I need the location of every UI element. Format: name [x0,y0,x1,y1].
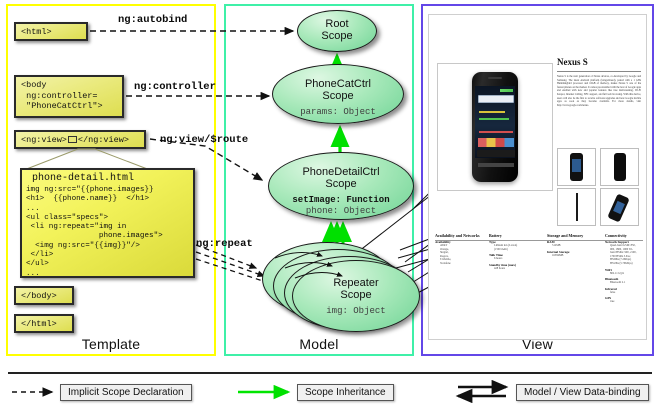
legend-item-implicit-scope-declaration: Implicit Scope Declaration [60,384,192,401]
view-rendered-page: Nexus S Nexus S is the next generation o… [428,14,647,340]
ngview-placeholder-icon [68,136,77,143]
spec-header-availability: Availability and Networks [435,233,481,238]
scope-repeater-title-2: Scope [293,289,419,301]
spec-value-standby: 428 hours [494,267,539,271]
code-html-open: <html> [14,22,88,41]
phone-widget-bar-1 [479,111,505,113]
code-phone-detail-template: phone-detail.html img ng:src="{{phone.im… [20,168,195,278]
phone-widget-bar-2 [479,118,509,120]
phone-searchbar [478,95,514,103]
label-ng-repeat: ng:repeat [196,238,253,250]
label-ng-autobind: ng:autobind [118,14,187,26]
scope-phonecatctrl-title-2: Scope [273,90,403,102]
thumbnail-1[interactable] [557,148,596,186]
label-ng-controller: ng:controller [134,81,216,93]
scope-repeater: Repeater Scope img: Object [292,260,420,332]
spec-column-storage: Storage and Memory RAM 512MB Internal St… [547,233,599,257]
thumbnail-2[interactable] [600,148,639,186]
product-description: Nexus S is the next generation of Nexus … [557,75,641,141]
scope-phonecatctrl-title-1: PhoneCatCtrl [273,78,403,90]
phone-speaker [488,77,502,79]
code-body-close: </body> [14,286,74,305]
legend-item-scope-inheritance: Scope Inheritance [297,384,394,401]
spec-value-vodafone: Vodafone [440,262,481,266]
spec-table: Availability and Networks Availability A… [435,233,643,333]
scope-root-title-2: Scope [298,30,376,42]
spec-value-network-6: HSUPA (5.76Mbps) [610,262,653,266]
diagram-canvas: Template Model View [0,0,660,420]
code-ngview: <ng:view></ng:view> [14,130,146,149]
panel-model-label: Model [226,336,412,352]
scope-repeater-title-1: Repeater [293,277,419,289]
scope-repeater-prop-img: img: Object [293,306,419,317]
phone-hero-image-frame [437,63,553,191]
code-body-open: <body ng:controller= "PhoneCatCtrl"> [14,75,124,118]
phone-widget-bar-3 [479,131,513,133]
spec-header-connectivity: Connectivity [605,233,653,238]
scope-phonecatctrl-prop-params: params: Object [273,107,403,118]
phone-app-icons [478,138,514,147]
legend-divider [8,372,652,374]
spec-value-talk-time: 6 hours [494,257,539,261]
code-html-close: </html> [14,314,74,333]
detail-code: img ng:src="{{phone.images}} <h1> {{phon… [26,186,189,279]
phone-statusbar [500,89,513,92]
scope-phonedetailctrl-title-2: Scope [269,178,413,190]
product-title: Nexus S [557,57,588,67]
spec-value-bluetooth: Bluetooth 2.1 [610,281,653,285]
scope-phonedetailctrl-title-1: PhoneDetailCtrl [269,166,413,178]
spec-header-storage: Storage and Memory [547,233,599,238]
thumbnail-3[interactable] [557,188,596,226]
scope-phonedetailctrl-prop-phone: phone: Object [269,206,413,217]
panel-template-label: Template [8,336,214,352]
spec-value-internal-storage: 16384MB [552,254,599,258]
title-divider [557,71,641,72]
scope-repeater-stack: Repeater Scope img: Object [262,242,422,334]
thumbnail-4[interactable] [600,188,639,226]
scope-phonedetailctrl-prop-setimage: setImage: Function [269,195,413,206]
phone-dock [477,150,515,157]
spec-column-connectivity: Connectivity Network Support Quad-band G… [605,233,653,304]
scope-phonecatctrl: PhoneCatCtrl Scope params: Object [272,64,404,124]
scope-phonedetailctrl: PhoneDetailCtrl Scope setImage: Function… [268,152,414,220]
spec-column-availability: Availability and Networks Availability A… [435,233,481,266]
label-ng-view-route: ng:view/$route [160,134,248,146]
scope-root-title-1: Root [298,18,376,30]
spec-value-gps: true [610,300,653,304]
ngview-close-tag: </ng:view> [78,135,129,145]
spec-value-wifi: 802.11 b/g/n [610,272,653,276]
phone-home-buttons [478,163,514,167]
scope-root: Root Scope [297,10,377,52]
legend-item-model-view-data-binding: Model / View Data-binding [516,384,649,401]
spec-value-infrared: false [610,291,653,295]
detail-filename: phone-detail.html [32,173,189,184]
spec-value-ram: 512MB [552,244,599,248]
ngview-open-tag: <ng:view> [21,135,67,145]
spec-column-battery: Battery Type Lithium Ion (Li-Ion) (1500 … [489,233,539,270]
spec-value-battery-type-2: (1500 mAh) [494,248,539,252]
spec-header-battery: Battery [489,233,539,238]
